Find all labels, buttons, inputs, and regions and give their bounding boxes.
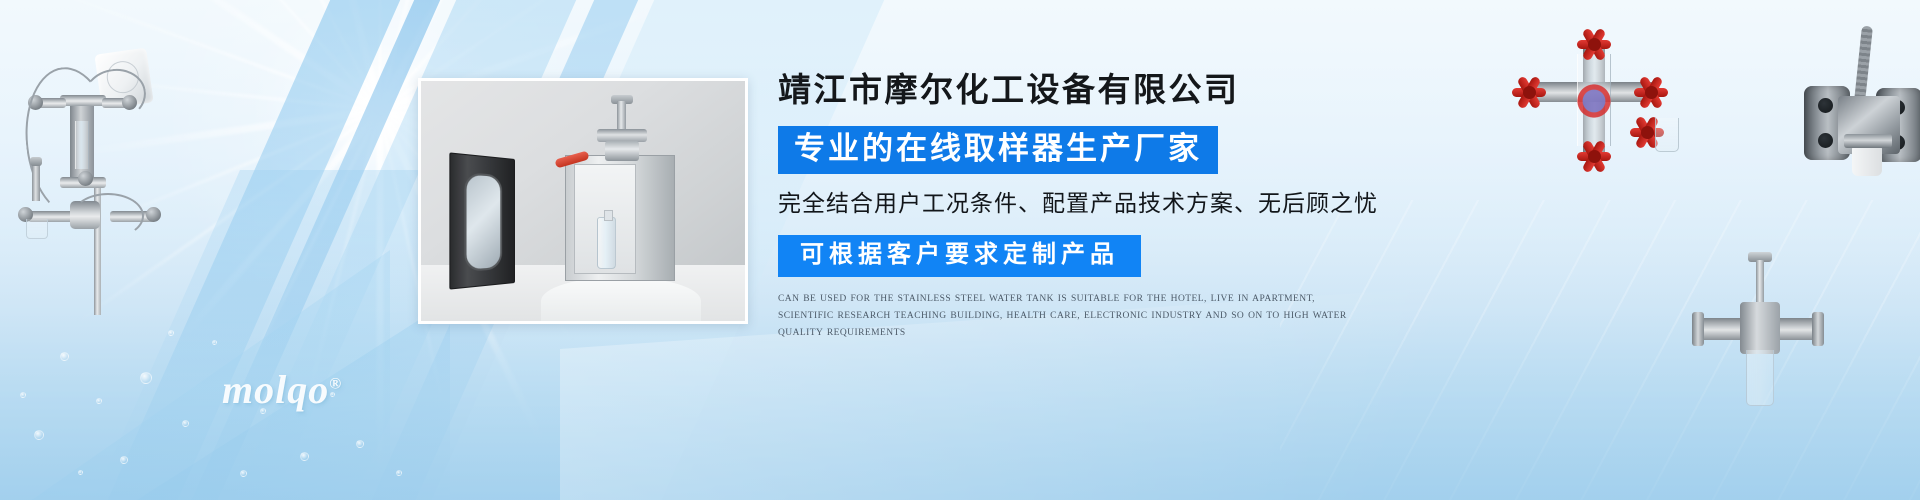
banner-copy-block: 靖江市摩尔化工设备有限公司 专业的在线取样器生产厂家 完全结合用户工况条件、配置… bbox=[778, 72, 1418, 341]
water-droplet bbox=[396, 470, 402, 476]
product-photo bbox=[418, 78, 748, 324]
water-droplet bbox=[96, 398, 102, 404]
watermark-text: molqo bbox=[222, 367, 329, 412]
water-droplet bbox=[60, 352, 69, 361]
water-droplet bbox=[300, 452, 309, 461]
cta-badge[interactable]: 可根据客户要求定制产品 bbox=[778, 235, 1141, 277]
water-droplet bbox=[20, 392, 26, 398]
brand-watermark: molqo® bbox=[222, 366, 342, 413]
water-droplet bbox=[78, 470, 83, 475]
water-droplet bbox=[120, 456, 128, 464]
sub-headline: 完全结合用户工况条件、配置产品技术方案、无后顾之忧 bbox=[778, 189, 1418, 219]
water-droplet bbox=[140, 372, 152, 384]
water-droplet bbox=[356, 440, 364, 448]
registered-trademark-icon: ® bbox=[329, 376, 342, 393]
left-product-image bbox=[10, 25, 190, 315]
english-description: CAN BE USED FOR THE STAINLESS STEEL WATE… bbox=[778, 291, 1372, 341]
promo-banner: 靖江市摩尔化工设备有限公司 专业的在线取样器生产厂家 完全结合用户工况条件、配置… bbox=[0, 0, 1920, 500]
right-small-product-image bbox=[1690, 250, 1870, 440]
water-droplet bbox=[182, 420, 189, 427]
company-name: 靖江市摩尔化工设备有限公司 bbox=[778, 72, 1418, 112]
right-cross-product-image bbox=[1505, 30, 1690, 170]
water-droplet bbox=[34, 430, 44, 440]
water-droplet bbox=[240, 470, 247, 477]
headline-badge: 专业的在线取样器生产厂家 bbox=[778, 126, 1218, 175]
right-lever-product-image bbox=[1800, 30, 1920, 190]
water-droplet bbox=[168, 330, 174, 336]
water-droplet bbox=[212, 340, 217, 345]
